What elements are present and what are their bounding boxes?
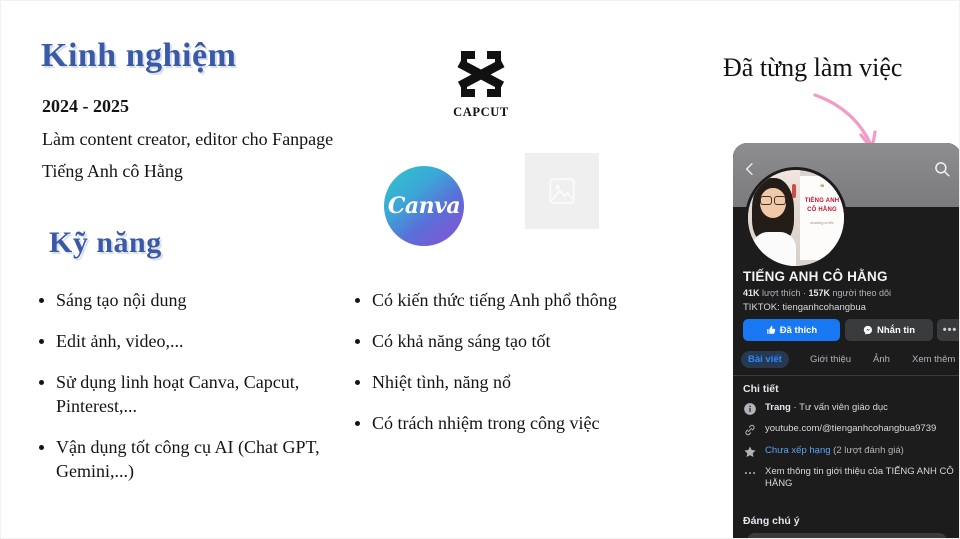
list-item: Nhiệt tình, năng nổ <box>353 371 653 395</box>
experience-line-2: Tiếng Anh cô Hằng <box>42 161 183 182</box>
brand-card-line-3: sharing is life <box>800 220 844 225</box>
detail-row-rating[interactable]: Chưa xếp hạng (2 lượt đánh giá) <box>743 445 955 457</box>
tab-posts[interactable]: Bài viết <box>741 351 789 368</box>
quote-mark-icon: ❝ <box>820 182 824 192</box>
action-button-row: Đã thích Nhắn tin ••• <box>743 319 953 341</box>
capcut-label: CAPCUT <box>441 105 521 120</box>
broken-image-placeholder <box>525 153 599 229</box>
page-title: TIẾNG ANH CÔ HẰNG <box>743 269 888 284</box>
ellipsis-icon <box>743 466 757 480</box>
skills-list-right: Có kiến thức tiếng Anh phổ thông Có khả … <box>353 289 653 453</box>
star-icon <box>743 445 757 459</box>
message-button-label: Nhắn tin <box>877 325 915 336</box>
broken-image-icon <box>547 176 577 206</box>
detail-rating-count: (2 lượt đánh giá) <box>831 445 904 456</box>
slide-canvas: Kinh nghiệm 2024 - 2025 Làm content crea… <box>0 0 960 539</box>
detail-category-strong: Trang <box>765 402 791 413</box>
canva-logo: Canva <box>384 166 464 246</box>
avatar[interactable]: ❝ TIẾNG ANH CÔ HẰNG sharing is life <box>745 167 847 269</box>
like-button-label: Đã thích <box>780 325 817 336</box>
facebook-page-screenshot: ❝ TIẾNG ANH CÔ HẰNG sharing is life TIẾN… <box>733 143 960 539</box>
list-item: Edit ảnh, video,... <box>37 330 337 354</box>
search-icon[interactable] <box>933 160 951 178</box>
worked-at-heading: Đã từng làm việc <box>723 53 902 83</box>
stats-separator: · <box>803 288 806 298</box>
divider <box>733 375 960 376</box>
page-tabs: Bài viết Giới thiệu Ảnh Xem thêm▼ <box>741 351 956 371</box>
brand-card-line-2: CÔ HẰNG <box>800 207 844 213</box>
noteworthy-heading: Đáng chú ý <box>743 515 800 527</box>
details-heading: Chi tiết <box>743 383 955 395</box>
list-item: Sử dụng linh hoạt Canva, Capcut, Pintere… <box>37 371 337 419</box>
detail-rating-text: Chưa xếp hạng <box>765 445 831 456</box>
like-button[interactable]: Đã thích <box>743 319 840 341</box>
detail-see-about-text: Xem thông tin giới thiệu của TIẾNG ANH C… <box>765 466 954 489</box>
tab-photos[interactable]: Ảnh <box>866 351 897 368</box>
list-item: Vận dụng tốt công cụ AI (Chat GPT, Gemin… <box>37 436 337 484</box>
tiktok-handle: TIKTOK: tienganhcohangbua <box>743 302 866 313</box>
more-options-button[interactable]: ••• <box>937 319 960 341</box>
avatar-marker <box>792 184 796 198</box>
info-icon <box>743 402 757 416</box>
brand-card-line-1: TIẾNG ANH <box>800 198 844 204</box>
detail-category-rest: · Tư vấn viên giáo dục <box>791 402 888 413</box>
noteworthy-card[interactable] <box>747 533 947 539</box>
page-stats: 41K lượt thích · 157K người theo dõi <box>743 288 891 298</box>
experience-line-1: Làm content creator, editor cho Fanpage <box>42 129 333 150</box>
skills-heading: Kỹ năng <box>49 226 162 260</box>
capcut-logo: CAPCUT <box>441 45 521 121</box>
experience-years: 2024 - 2025 <box>42 96 129 117</box>
avatar-shirt <box>752 232 796 266</box>
messenger-icon <box>863 325 873 335</box>
link-icon <box>743 423 757 437</box>
canva-label: Canva <box>388 193 460 219</box>
thumbs-up-icon <box>766 325 776 335</box>
followers-count: 157K <box>809 288 831 298</box>
detail-website-text: youtube.com/@tienganhcohangbua9739 <box>765 423 936 434</box>
tab-about[interactable]: Giới thiệu <box>803 351 858 368</box>
tab-more-label: Xem thêm <box>912 354 955 365</box>
list-item: Sáng tạo nội dung <box>37 289 337 313</box>
followers-label: người theo dõi <box>833 288 891 298</box>
details-section: Chi tiết Trang · Tư vấn viên giáo dục yo… <box>743 383 955 500</box>
avatar-brand-card: ❝ TIẾNG ANH CÔ HẰNG sharing is life <box>800 176 844 260</box>
likes-count: 41K <box>743 288 760 298</box>
detail-row-website[interactable]: youtube.com/@tienganhcohangbua9739 <box>743 423 955 435</box>
likes-label: lượt thích <box>762 288 800 298</box>
message-button[interactable]: Nhắn tin <box>845 319 933 341</box>
capcut-icon <box>441 45 521 103</box>
list-item: Có kiến thức tiếng Anh phổ thông <box>353 289 653 313</box>
list-item: Có trách nhiệm trong công việc <box>353 412 653 436</box>
tab-more[interactable]: Xem thêm▼ <box>905 351 960 368</box>
experience-heading: Kinh nghiệm <box>41 37 236 75</box>
list-item: Có khả năng sáng tạo tốt <box>353 330 653 354</box>
avatar-glasses-icon <box>760 196 786 203</box>
detail-row-category: Trang · Tư vấn viên giáo dục <box>743 402 955 414</box>
skills-list-left: Sáng tạo nội dung Edit ảnh, video,... Sử… <box>37 289 337 501</box>
detail-row-see-about[interactable]: Xem thông tin giới thiệu của TIẾNG ANH C… <box>743 466 955 491</box>
